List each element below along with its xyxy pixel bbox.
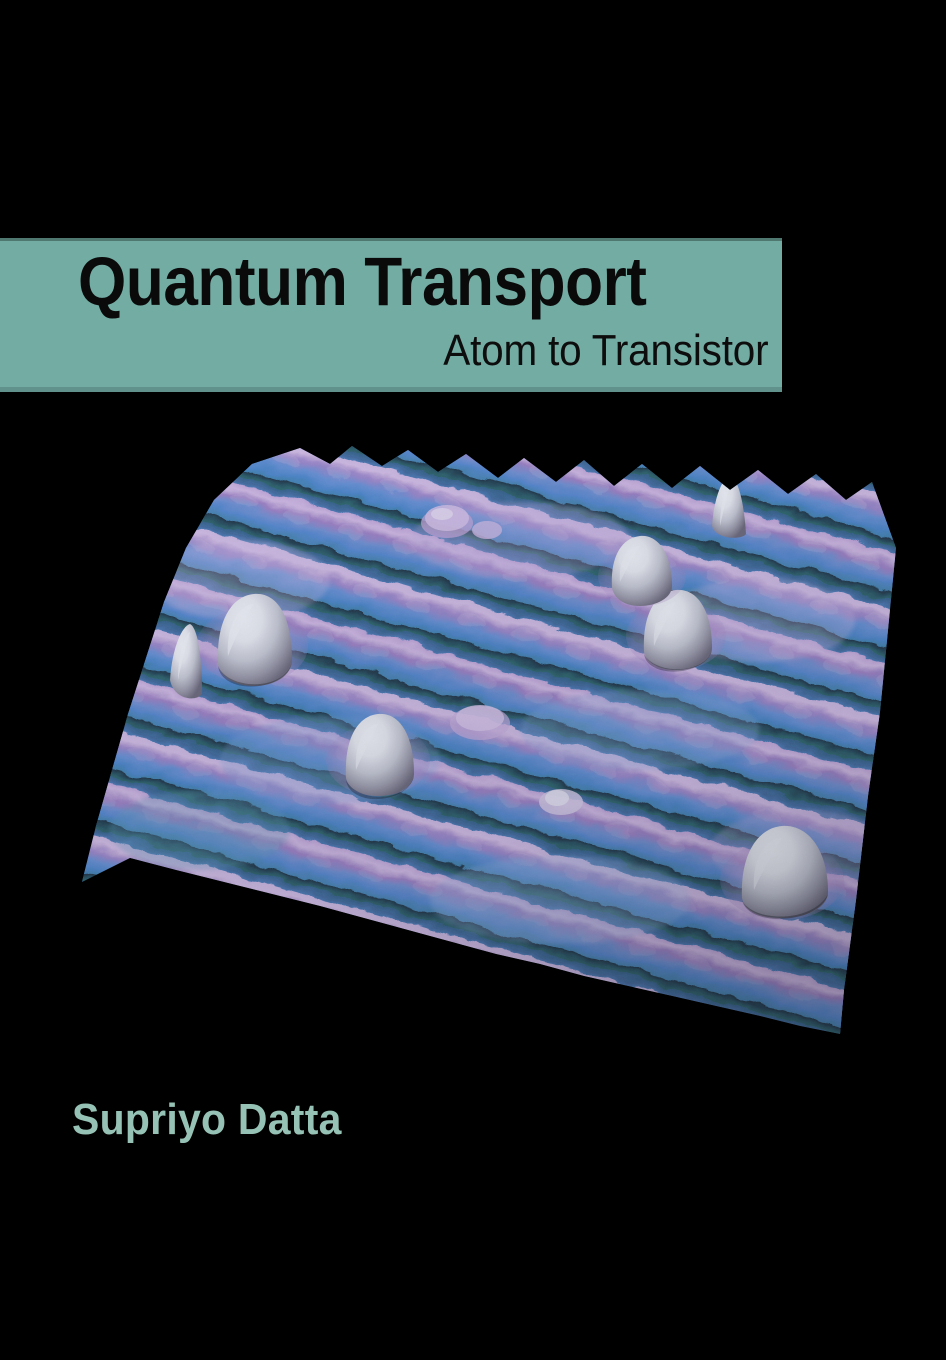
page-title: Quantum Transport — [78, 241, 647, 323]
author-name: Supriyo Datta — [72, 1094, 342, 1146]
title-band: Quantum Transport Atom to Transistor — [0, 238, 782, 392]
book-cover: Quantum Transport Atom to Transistor Sup… — [0, 0, 946, 1360]
book-subtitle: Atom to Transistor — [443, 324, 768, 378]
stm-artwork — [0, 430, 946, 1110]
